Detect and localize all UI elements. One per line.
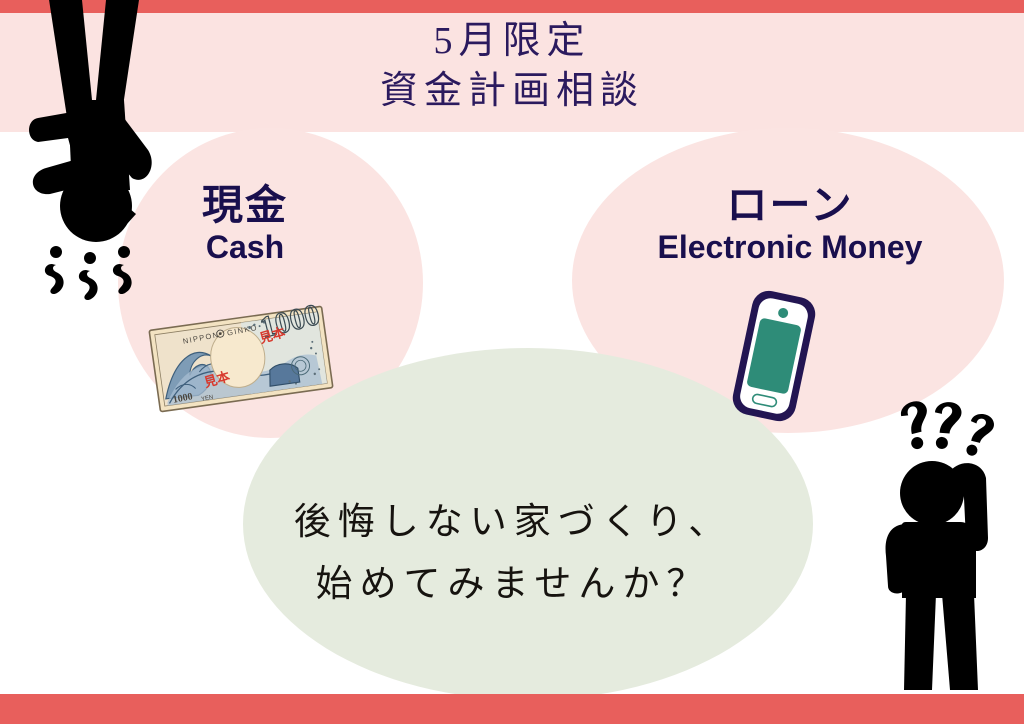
smartphone-icon <box>712 283 836 429</box>
tagline-line-1: 後悔しない家づくり、 <box>203 492 823 554</box>
upside-down-person-pictogram <box>24 0 174 305</box>
poster-canvas: 5月限定 資金計画相談 現金 Cash ローン Electronic Money <box>0 0 1024 724</box>
tagline: 後悔しない家づくり、 始めてみませんか？ <box>203 492 823 616</box>
question-marks-icon <box>898 399 996 459</box>
confused-person-pictogram <box>876 398 1021 698</box>
bottom-accent-band <box>0 694 1024 724</box>
banknote-1000-yen-icon: NIPPON GINKO 1000 10 <box>146 296 336 422</box>
emoney-en-label: Electronic Money <box>575 228 1005 266</box>
tagline-line-2: 始めてみませんか？ <box>203 554 823 616</box>
column-label-electronic-money: ローン Electronic Money <box>575 182 1005 266</box>
emoney-jp-label: ローン <box>575 182 1005 228</box>
